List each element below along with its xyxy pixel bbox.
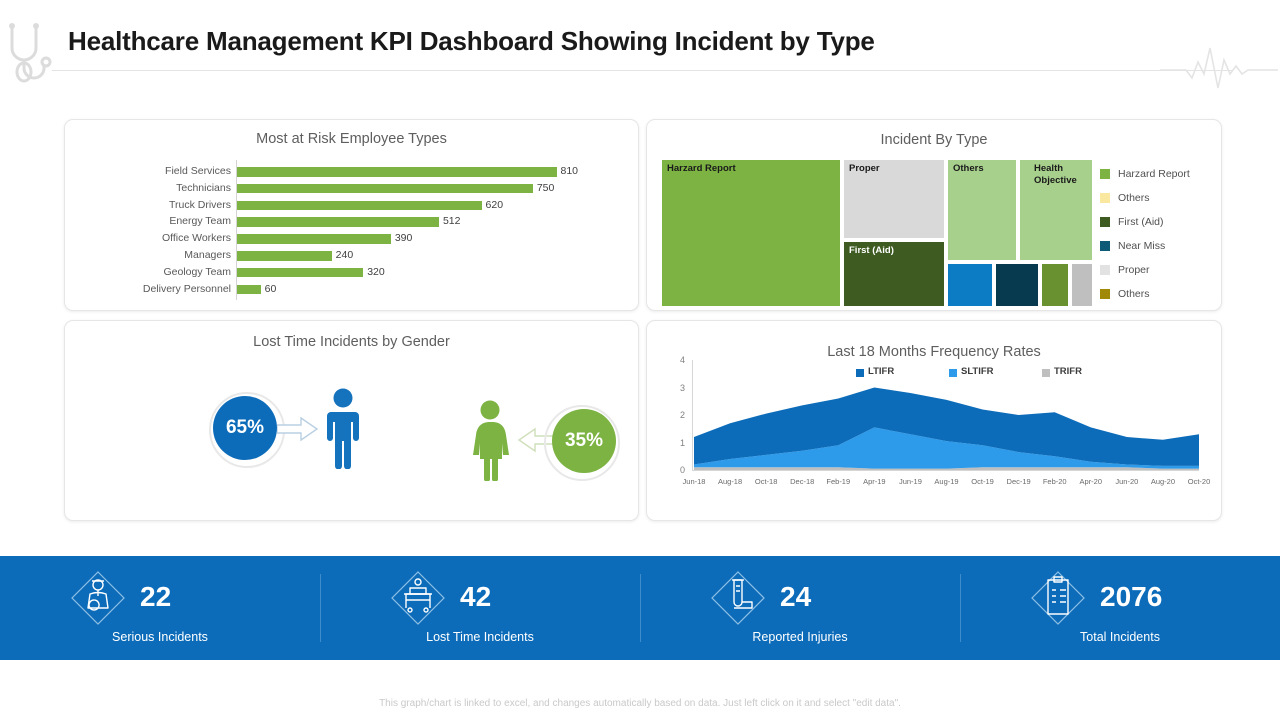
ekg-waveform-icon xyxy=(1160,44,1278,90)
area-chart-plot xyxy=(694,360,1199,470)
legend-label: Others xyxy=(1118,285,1150,303)
treemap-tile-label: Others xyxy=(953,163,984,175)
bar-row: Office Workers390 xyxy=(65,230,638,247)
kpi-cell[interactable]: 42Lost Time Incidents xyxy=(320,556,640,660)
bar-category-label: Delivery Personnel xyxy=(65,281,231,298)
legend-swatch xyxy=(1100,265,1110,275)
gender-infographic: 65% 35% xyxy=(65,361,638,519)
y-axis-tick-label: 3 xyxy=(661,383,685,393)
female-percent-label: 35% xyxy=(565,430,603,452)
clipboard-icon xyxy=(1030,570,1086,626)
x-axis-tick-label: Oct-18 xyxy=(749,477,783,486)
kpi-cell[interactable]: 24Reported Injuries xyxy=(640,556,960,660)
bar-fill xyxy=(237,268,363,278)
treemap-tile-label: Harzard Report xyxy=(667,163,736,175)
bar-row: Energy Team512 xyxy=(65,213,638,230)
x-axis-tick-label: Apr-19 xyxy=(857,477,891,486)
legend-label: Proper xyxy=(1118,261,1150,279)
bar-category-label: Office Workers xyxy=(65,230,231,247)
bar-row: Field Services810 xyxy=(65,163,638,180)
card-title-lost-time-by-gender: Lost Time Incidents by Gender xyxy=(65,334,638,350)
treemap-tile xyxy=(995,263,1039,307)
x-axis-tick-label: Aug-20 xyxy=(1146,477,1180,486)
legend-swatch xyxy=(1100,289,1110,299)
page-header: Healthcare Management KPI Dashboard Show… xyxy=(0,0,1280,92)
kpi-caption: Reported Injuries xyxy=(640,630,960,644)
x-axis-tick-label: Jun-18 xyxy=(677,477,711,486)
kpi-value: 2076 xyxy=(1100,581,1162,613)
female-percent-circle: 35% xyxy=(552,409,616,473)
treemap-legend-item: Others xyxy=(1100,285,1220,309)
male-figure-icon xyxy=(323,387,363,469)
treemap-legend-item: Proper xyxy=(1100,261,1220,285)
y-axis-tick-label: 2 xyxy=(661,410,685,420)
x-axis-tick-label: Oct-20 xyxy=(1182,477,1216,486)
bar-category-label: Field Services xyxy=(65,163,231,180)
bar-value-label: 60 xyxy=(265,281,277,298)
bar-value-label: 390 xyxy=(395,230,413,247)
x-axis-tick-label: Dec-19 xyxy=(1002,477,1036,486)
legend-label: Harzard Report xyxy=(1118,165,1190,183)
treemap-tile-label: Proper xyxy=(849,163,880,175)
bar-fill xyxy=(237,251,332,261)
card-title-most-at-risk: Most at Risk Employee Types xyxy=(65,131,638,147)
treemap-tile-label: Health Objective xyxy=(1034,163,1077,186)
bar-category-label: Truck Drivers xyxy=(65,197,231,214)
bar-row: Delivery Personnel60 xyxy=(65,281,638,298)
x-axis-tick-label: Feb-20 xyxy=(1038,477,1072,486)
bar-value-label: 620 xyxy=(486,197,504,214)
bar-value-label: 810 xyxy=(561,163,579,180)
bar-category-label: Managers xyxy=(65,247,231,264)
bar-fill xyxy=(237,234,391,244)
treemap-tile: Proper xyxy=(843,159,945,239)
kpi-cell[interactable]: 2076Total Incidents xyxy=(960,556,1280,660)
kpi-value: 24 xyxy=(780,581,811,613)
card-incident-by-type: Incident By Type Harzard ReportProperFir… xyxy=(646,119,1222,311)
card-lost-time-by-gender: Lost Time Incidents by Gender 65% xyxy=(64,320,639,521)
footer-note: This graph/chart is linked to excel, and… xyxy=(0,698,1280,709)
legend-swatch xyxy=(1100,217,1110,227)
treemap-tile xyxy=(1071,263,1093,307)
bar-category-label: Technicians xyxy=(65,180,231,197)
bar-row: Managers240 xyxy=(65,247,638,264)
x-axis-tick-label: Apr-20 xyxy=(1074,477,1108,486)
area-chart-frequency-rates: LTIFRSLTIFRTRIFR 01234Jun-18Aug-18Oct-18… xyxy=(661,354,1207,509)
page-title: Healthcare Management KPI Dashboard Show… xyxy=(68,26,875,57)
bar-fill xyxy=(237,285,261,295)
treemap-incident-by-type: Harzard ReportProperFirst (Aid)OthersHea… xyxy=(661,159,1093,307)
kpi-caption: Serious Incidents xyxy=(0,630,320,644)
x-axis-tick-label: Feb-19 xyxy=(821,477,855,486)
bar-value-label: 240 xyxy=(336,247,354,264)
treemap-legend-item: Harzard Report xyxy=(1100,165,1220,189)
kpi-value: 42 xyxy=(460,581,491,613)
bar-fill xyxy=(237,217,439,227)
treemap-legend: Harzard ReportOthersFirst (Aid)Near Miss… xyxy=(1100,165,1220,309)
x-axis-line xyxy=(692,470,1199,471)
legend-label: Near Miss xyxy=(1118,237,1165,255)
kpi-cell[interactable]: 22Serious Incidents xyxy=(0,556,320,660)
legend-swatch xyxy=(1100,193,1110,203)
treemap-legend-item: First (Aid) xyxy=(1100,213,1220,237)
legend-swatch xyxy=(1100,169,1110,179)
y-axis-tick-label: 1 xyxy=(661,438,685,448)
kpi-summary-strip: 22Serious Incidents42Lost Time Incidents… xyxy=(0,556,1280,660)
treemap-legend-item: Others xyxy=(1100,189,1220,213)
x-axis-tick-label: Aug-18 xyxy=(713,477,747,486)
treemap-tile: Harzard Report xyxy=(661,159,841,307)
treemap-legend-item: Near Miss xyxy=(1100,237,1220,261)
bar-value-label: 750 xyxy=(537,180,555,197)
bar-fill xyxy=(237,201,482,211)
male-percent-circle: 65% xyxy=(213,396,277,460)
card-most-at-risk: Most at Risk Employee Types Field Servic… xyxy=(64,119,639,311)
treemap-tile-label: First (Aid) xyxy=(849,245,894,257)
x-axis-tick-label: Aug-19 xyxy=(930,477,964,486)
hospital-bed-icon xyxy=(390,570,446,626)
y-axis-tick-label: 0 xyxy=(661,465,685,475)
bar-value-label: 320 xyxy=(367,264,385,281)
male-arrow-icon xyxy=(277,416,319,442)
treemap-tile: First (Aid) xyxy=(843,241,945,307)
bar-fill xyxy=(237,184,533,194)
x-axis-tick-label: Oct-19 xyxy=(966,477,1000,486)
kpi-caption: Total Incidents xyxy=(960,630,1280,644)
header-divider xyxy=(52,70,1232,71)
treemap-tile xyxy=(947,263,993,307)
bar-row: Truck Drivers620 xyxy=(65,197,638,214)
card-title-incident-by-type: Incident By Type xyxy=(647,132,1221,148)
bar-category-label: Geology Team xyxy=(65,264,231,281)
treemap-tile: Health Objective xyxy=(1019,159,1093,261)
test-tube-icon xyxy=(710,570,766,626)
legend-swatch xyxy=(1100,241,1110,251)
bar-chart-most-at-risk: Field Services810Technicians750Truck Dri… xyxy=(65,160,638,300)
female-figure-icon xyxy=(470,399,510,481)
legend-label: First (Aid) xyxy=(1118,213,1164,231)
kpi-caption: Lost Time Incidents xyxy=(320,630,640,644)
bar-value-label: 512 xyxy=(443,213,461,230)
male-percent-label: 65% xyxy=(226,417,264,439)
y-axis-tick-label: 4 xyxy=(661,355,685,365)
card-frequency-rates: Last 18 Months Frequency Rates LTIFRSLTI… xyxy=(646,320,1222,521)
kpi-value: 22 xyxy=(140,581,171,613)
stethoscope-icon xyxy=(2,22,58,88)
y-axis-line xyxy=(692,360,693,470)
nurse-icon xyxy=(70,570,126,626)
legend-label: Others xyxy=(1118,189,1150,207)
treemap-tile xyxy=(1041,263,1069,307)
bar-row: Geology Team320 xyxy=(65,264,638,281)
bar-row: Technicians750 xyxy=(65,180,638,197)
bar-fill xyxy=(237,167,557,177)
bar-category-label: Energy Team xyxy=(65,213,231,230)
treemap-tile: Others xyxy=(947,159,1017,261)
x-axis-tick-label: Jun-19 xyxy=(893,477,927,486)
x-axis-tick-label: Jun-20 xyxy=(1110,477,1144,486)
x-axis-tick-label: Dec-18 xyxy=(785,477,819,486)
